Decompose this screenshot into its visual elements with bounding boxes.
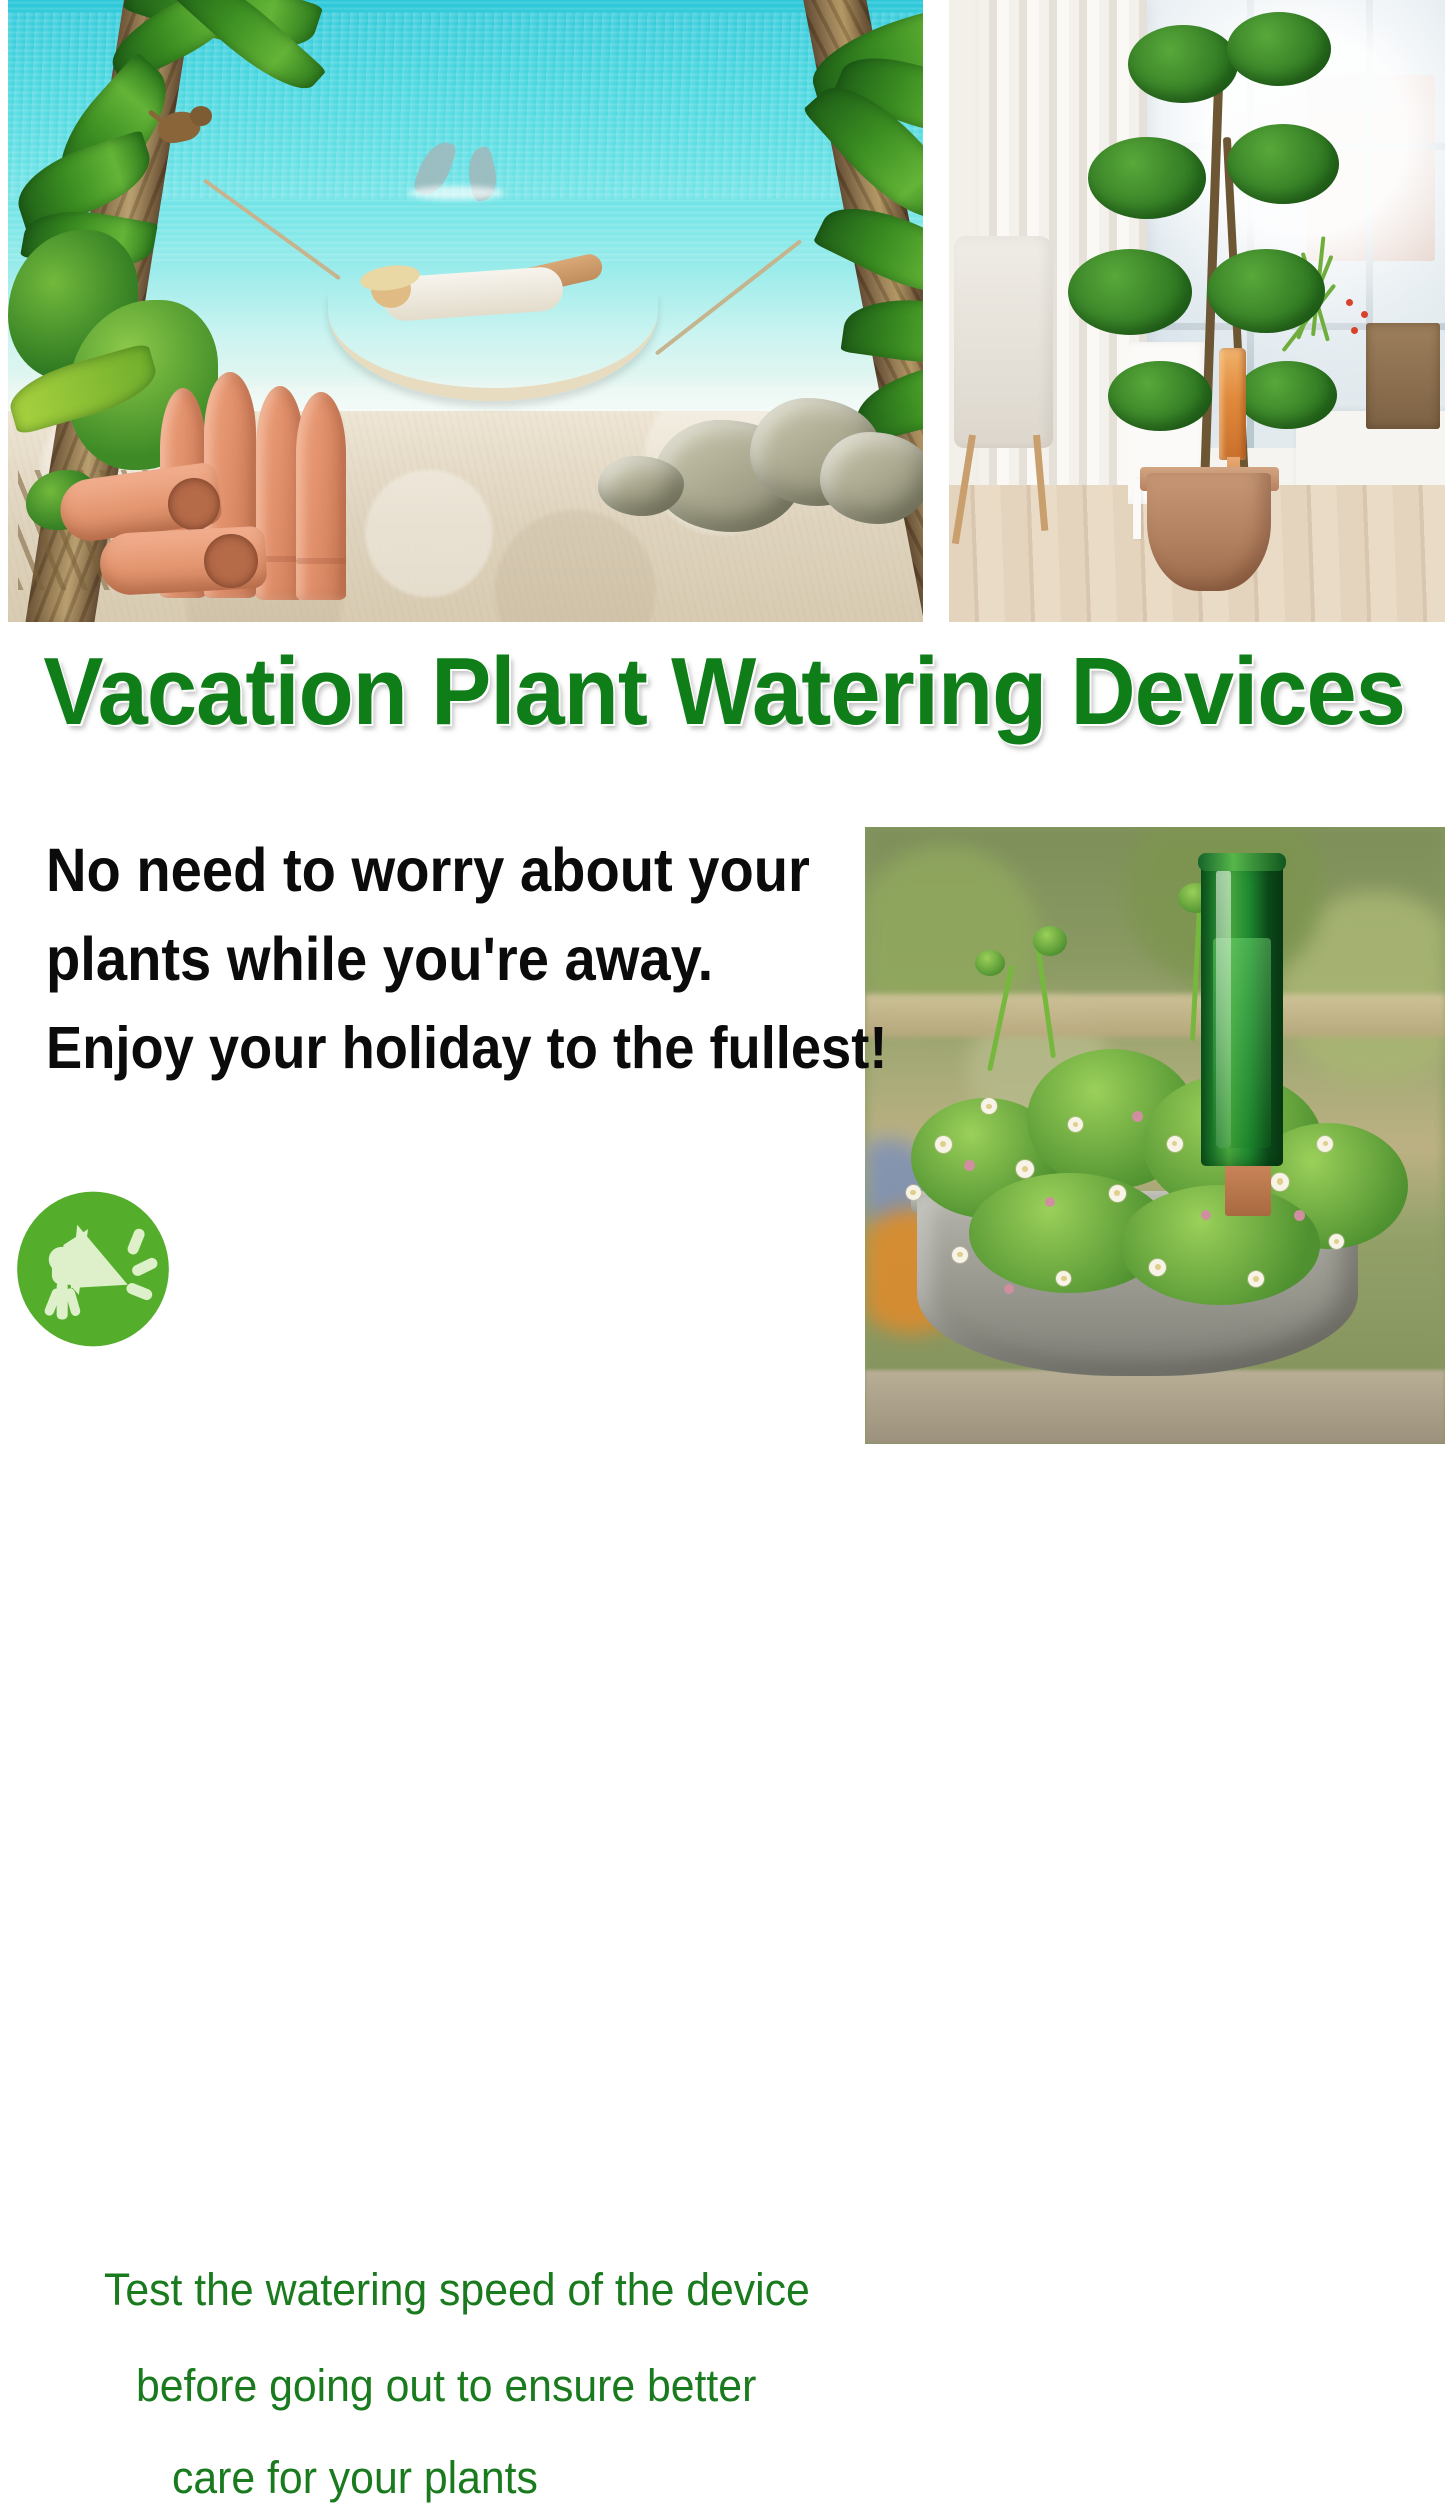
plant-leaf-cluster	[1207, 249, 1325, 333]
plant-foliage	[1120, 1185, 1320, 1305]
plant-leaf-cluster	[1128, 25, 1238, 103]
plant-leaf-cluster	[1227, 124, 1339, 204]
white-daisy	[952, 1247, 968, 1263]
garden-planter-photo	[865, 827, 1445, 1444]
pink-bud	[1045, 1197, 1055, 1207]
flower-berry	[1351, 327, 1358, 334]
indoor-plant-photo	[949, 0, 1445, 622]
megaphone-announcement-icon	[14, 1188, 172, 1350]
beach-hammock-photo	[8, 0, 923, 622]
tip-line-3: care for your plants	[172, 2452, 538, 2504]
dolphin-splash	[408, 186, 504, 200]
plant-leaf-cluster	[1227, 12, 1331, 86]
monkey-head	[190, 106, 212, 126]
bottle-highlight	[1216, 870, 1231, 1148]
headline-line-2: plants while you're away.	[46, 915, 800, 1004]
page-title: Vacation Plant Watering Devices	[43, 644, 1401, 740]
wooden-deck	[865, 1370, 1445, 1444]
headline-block: No need to worry about your plants while…	[46, 826, 866, 1093]
terracotta-flower-pot	[1147, 473, 1271, 591]
headline-line-3: Enjoy your holiday to the fullest!	[46, 1004, 800, 1093]
white-daisy	[1271, 1173, 1289, 1191]
tip-line-1: Test the watering speed of the device	[104, 2264, 810, 2316]
pink-bud	[1294, 1210, 1305, 1221]
garden-rail	[865, 994, 1445, 1037]
plant-leaf-cluster	[1108, 361, 1212, 431]
chair	[954, 236, 1053, 447]
pink-bud	[1201, 1210, 1211, 1220]
white-daisy	[1109, 1185, 1126, 1202]
beach-rock	[598, 456, 684, 516]
flower-berry	[1346, 299, 1353, 306]
plant-leaf-cluster	[1088, 137, 1206, 219]
plant-leaf-cluster	[1237, 361, 1337, 429]
white-daisy	[1068, 1117, 1083, 1132]
pink-bud	[964, 1160, 975, 1171]
white-daisy	[1016, 1160, 1034, 1178]
white-daisy	[1167, 1136, 1183, 1152]
white-daisy	[1317, 1136, 1333, 1152]
white-daisy	[1149, 1259, 1166, 1276]
watering-spike-opening	[168, 478, 220, 530]
watering-spike-ring	[296, 558, 346, 564]
bottle-base-rim	[1198, 853, 1286, 872]
plant-leaf-cluster	[1068, 249, 1192, 335]
amber-watering-bottle	[1219, 348, 1246, 460]
tip-line-2: before going out to ensure better	[136, 2360, 756, 2412]
white-daisy	[906, 1185, 921, 1200]
flower-berry	[1361, 311, 1368, 318]
watering-spike	[296, 392, 346, 600]
beach-rock	[820, 432, 923, 524]
watering-spike-opening	[204, 534, 258, 588]
wooden-crate	[1366, 323, 1440, 429]
white-daisy	[935, 1136, 952, 1153]
pink-bud	[1132, 1111, 1143, 1122]
white-daisy	[1248, 1271, 1264, 1287]
green-bud	[1033, 926, 1067, 956]
headline-line-1: No need to worry about your	[46, 826, 800, 915]
pink-bud	[1004, 1284, 1014, 1294]
